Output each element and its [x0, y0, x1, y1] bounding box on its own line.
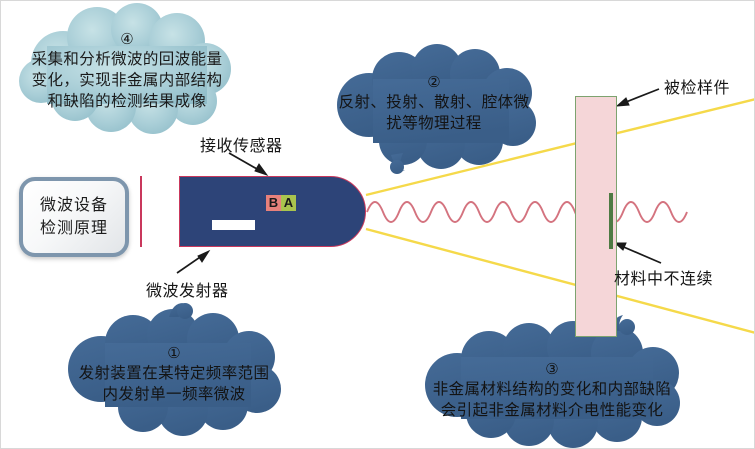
label-emitter: 微波发射器 [146, 277, 229, 301]
cloud-3-number: ③ [545, 362, 558, 379]
cloud-callout-1: ① 发射装置在某特定频率范围 内发射单一频率微波 [63, 313, 285, 425]
cloud-1-text: 发射装置在某特定频率范围 内发射单一频率微波 [79, 363, 270, 405]
microwave-device: B A [179, 176, 366, 247]
device-chip-a: A [281, 195, 296, 211]
title-box: 微波设备 检测原理 [19, 177, 129, 257]
device-white-bar [212, 220, 255, 230]
device-divider-line [140, 176, 142, 247]
material-discontinuity [609, 193, 613, 249]
title-box-text: 微波设备 检测原理 [40, 194, 108, 240]
label-discontinuity: 材料中不连续 [614, 265, 713, 289]
device-chip-b: B [266, 195, 281, 211]
cloud-4-number: ④ [120, 32, 133, 49]
label-specimen: 被检样件 [664, 74, 730, 98]
cloud-callout-2: ② 反射、投射、散射、腔体微 扰等物理过程 [333, 58, 535, 165]
cloud-3-text: 非金属材料结构的变化和内部缺陷 会引起非金属材料介电性能变化 [433, 379, 672, 421]
cloud-2-text: 反射、投射、散射、腔体微 扰等物理过程 [339, 92, 530, 134]
cloud-1-number: ① [167, 346, 180, 363]
cloud-4-text: 采集和分析微波的回波能量 变化，实现非金属内部结构 和缺陷的检测结果成像 [32, 49, 223, 112]
microwave-wave [367, 202, 687, 222]
cloud-2-number: ② [427, 75, 440, 92]
cloud-callout-4: ④ 采集和分析微波的回波能量 变化，实现非金属内部结构 和缺陷的检测结果成像 [21, 7, 233, 125]
diagram-canvas: 微波设备 检测原理 B A 接收传感器 微波发射器 被检样件 材料中不连续 ④ … [0, 0, 755, 449]
cloud-callout-3: ③ 非金属材料结构的变化和内部缺陷 会引起非金属材料介电性能变化 [421, 329, 683, 441]
label-receiver: 接收传感器 [200, 132, 283, 156]
